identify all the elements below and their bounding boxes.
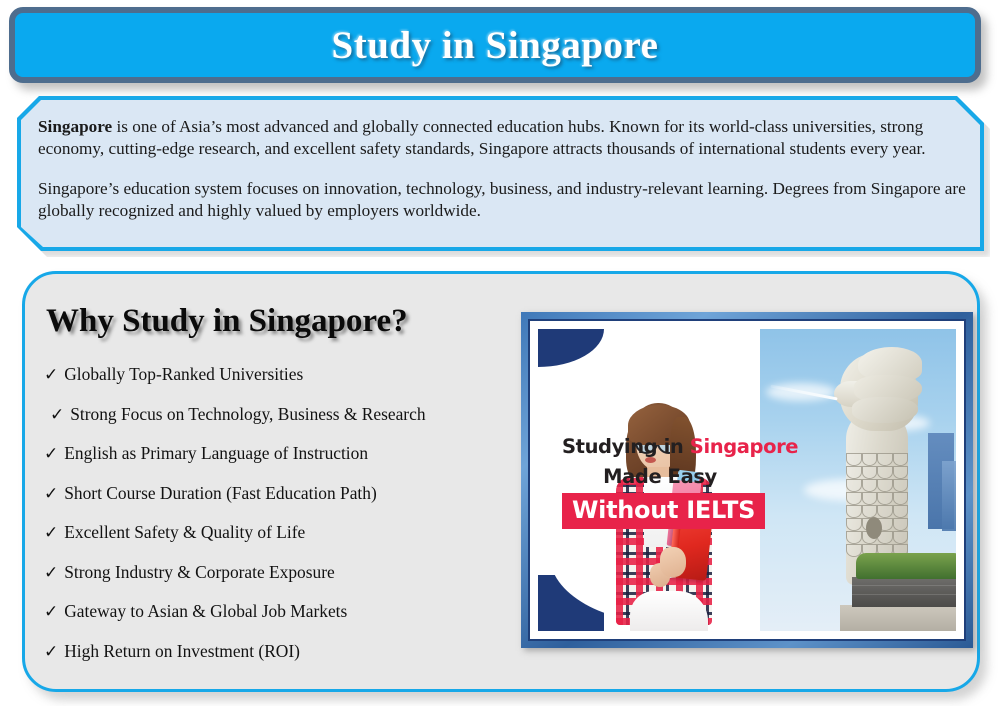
merlion-scales [846, 466, 908, 479]
poster-image: Studying in Singapore Made Easy Without … [538, 329, 956, 631]
merlion-scales [846, 492, 908, 505]
list-item-label: Excellent Safety & Quality of Life [64, 524, 305, 541]
check-icon: ✓ [44, 446, 58, 463]
poster-headline-line-2: Made Easy [562, 465, 758, 488]
list-item-label: Gateway to Asian & Global Job Markets [64, 603, 347, 620]
list-item-label: Short Course Duration (Fast Education Pa… [64, 485, 377, 502]
list-item-label: English as Primary Language of Instructi… [64, 445, 368, 462]
poster-headline-plain: Studying in [562, 435, 690, 458]
list-item: ✓English as Primary Language of Instruct… [44, 445, 514, 463]
student-pants [630, 591, 708, 631]
list-item-label: Globally Top-Ranked Universities [64, 366, 303, 383]
check-icon: ✓ [44, 525, 58, 542]
list-item: ✓Excellent Safety & Quality of Life [44, 524, 514, 542]
intro-paragraph-1-rest: is one of Asia’s most advanced and globa… [38, 117, 926, 158]
merlion-scales [846, 505, 908, 518]
poster-photo-region [760, 329, 956, 631]
check-icon: ✓ [44, 604, 58, 621]
list-item: ✓Short Course Duration (Fast Education P… [44, 485, 514, 503]
list-item: ✓Globally Top-Ranked Universities [44, 366, 514, 384]
poster-headline-line-1: Studying in Singapore [562, 435, 758, 458]
check-icon: ✓ [44, 367, 58, 384]
merlion-mane [852, 397, 918, 423]
why-study-heading: Why Study in Singapore? [46, 303, 408, 340]
benefits-list: ✓Globally Top-Ranked Universities ✓Stron… [44, 366, 514, 682]
poster-headline-highlight: Singapore [690, 435, 798, 458]
list-item-label: Strong Focus on Technology, Business & R… [70, 406, 425, 423]
planter-wall [852, 577, 956, 607]
intro-paragraph-2: Singapore’s education system focuses on … [38, 178, 968, 223]
ground-strip [840, 605, 956, 631]
page-title: Study in Singapore [332, 23, 659, 68]
check-icon: ✓ [44, 644, 58, 661]
poster-headline-badge: Without IELTS [562, 493, 765, 529]
list-item: ✓Strong Industry & Corporate Exposure [44, 564, 514, 582]
list-item-label: Strong Industry & Corporate Exposure [64, 564, 334, 581]
list-item: ✓Strong Focus on Technology, Business & … [44, 406, 514, 424]
intro-text-block: Singapore is one of Asia’s most advanced… [38, 116, 968, 222]
list-item: ✓Gateway to Asian & Global Job Markets [44, 603, 514, 621]
skyline-building [942, 461, 956, 531]
header-banner: Study in Singapore [9, 7, 981, 83]
student-hand [660, 547, 686, 577]
merlion-scales [846, 453, 908, 466]
list-item: ✓High Return on Investment (ROI) [44, 643, 514, 661]
poster-corner-shape-top-left [538, 329, 604, 367]
poster-headline-line-3: Without IELTS [572, 496, 755, 524]
hedge-row [856, 553, 956, 579]
merlion-detail [866, 517, 882, 539]
merlion-scales [846, 479, 908, 492]
check-icon: ✓ [44, 565, 58, 582]
poster-frame: Studying in Singapore Made Easy Without … [521, 312, 973, 648]
intro-lead-word: Singapore [38, 117, 112, 136]
check-icon: ✓ [50, 407, 64, 424]
merlion-statue [832, 347, 928, 583]
poster-inner-frame: Studying in Singapore Made Easy Without … [528, 319, 966, 641]
check-icon: ✓ [44, 486, 58, 503]
intro-paragraph-1: Singapore is one of Asia’s most advanced… [38, 116, 968, 161]
list-item-label: High Return on Investment (ROI) [64, 643, 300, 660]
poster-text-block: Studying in Singapore Made Easy Without … [562, 435, 758, 529]
